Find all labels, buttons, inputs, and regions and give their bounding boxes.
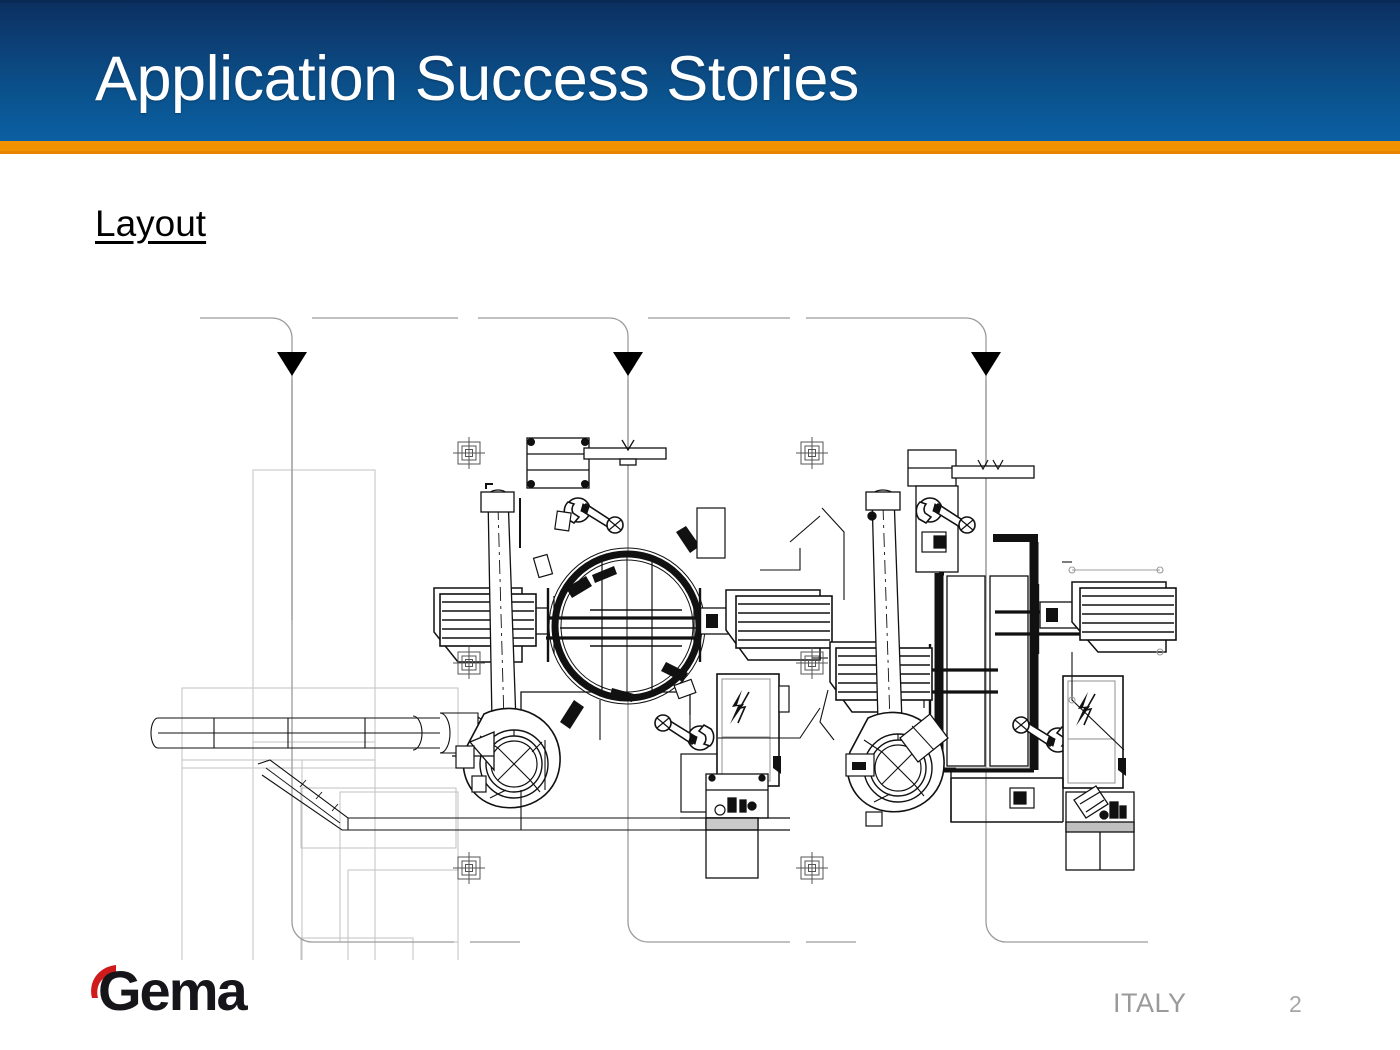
slide-header: Application Success Stories bbox=[0, 0, 1400, 141]
section-label-layout: Layout bbox=[95, 203, 206, 245]
callout-triangle-1 bbox=[277, 352, 307, 376]
ghost-building-outlines bbox=[182, 470, 458, 960]
center-lower-boxes bbox=[706, 774, 768, 878]
page-title: Application Success Stories bbox=[95, 48, 859, 111]
header-accent-bar-shadow bbox=[0, 151, 1400, 154]
left-conveyor-assembly bbox=[151, 713, 680, 830]
right-booth-walls bbox=[939, 538, 1038, 770]
plant-layout-drawing bbox=[0, 270, 1400, 960]
callout-markers bbox=[277, 352, 1001, 376]
gema-logo: Gema bbox=[86, 962, 286, 1022]
right-lower-booth bbox=[951, 770, 1063, 822]
footer-country-label: ITALY bbox=[1113, 988, 1187, 1019]
center-robot-bottom bbox=[655, 715, 714, 750]
callout-triangle-2 bbox=[613, 352, 643, 376]
center-top-equipment bbox=[527, 438, 666, 488]
center-control-cabinet bbox=[717, 674, 789, 786]
center-left-filter-bank bbox=[434, 588, 536, 662]
right-right-filter-bank bbox=[1072, 582, 1176, 652]
callout-triangle-3 bbox=[971, 352, 1001, 376]
gema-logo-text: Gema bbox=[98, 962, 246, 1022]
slide-footer: Gema ITALY 2 bbox=[0, 950, 1400, 1050]
header-top-line bbox=[0, 0, 1400, 3]
slide-page-number: 2 bbox=[1289, 991, 1302, 1018]
plant-layout-svg bbox=[0, 270, 1400, 960]
center-cyclone bbox=[452, 708, 560, 807]
center-right-filter-bank bbox=[726, 590, 832, 660]
right-workbench bbox=[1066, 786, 1134, 870]
right-top-equipment bbox=[908, 450, 1034, 572]
center-robot-top bbox=[564, 498, 623, 533]
right-cyclone bbox=[846, 712, 948, 826]
